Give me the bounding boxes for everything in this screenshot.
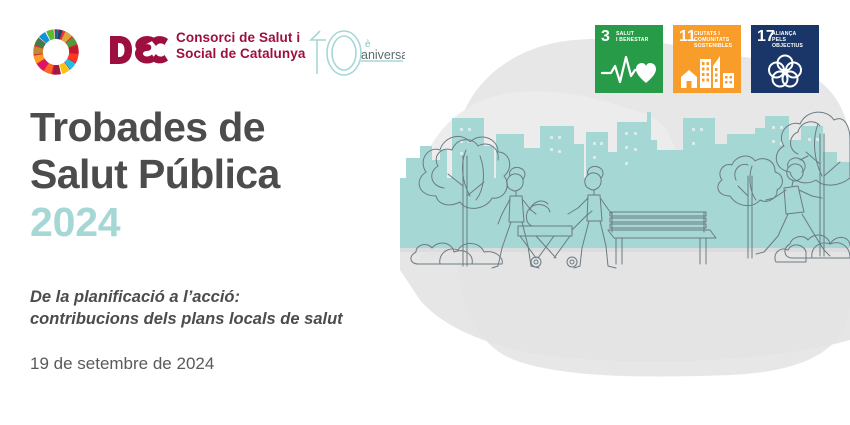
page-title-line2: Salut Pública <box>30 151 410 198</box>
anniversary-word: aniversari <box>361 48 405 62</box>
sdg-badges: 3 SALUT I BENESTAR 11 CIUTATS I COMUNITA… <box>595 25 825 97</box>
poster-canvas: Consorci de Salut i Social de Catalunya … <box>0 0 850 425</box>
page-title-year: 2024 <box>30 199 410 246</box>
sdg-badge-17-label: ALIANÇA PELS OBJECTIUS <box>772 31 816 50</box>
sdg-badge-3-number: 3 <box>601 30 610 44</box>
sdg-badge-11-label-line3: SOSTENIBLES <box>694 43 738 49</box>
interlocking-circles-icon <box>756 51 814 89</box>
dsc-monogram-icon <box>108 32 170 68</box>
sdg-badge-17-label-line2: PELS OBJECTIUS <box>772 37 816 49</box>
consorci-name: Consorci de Salut i Social de Catalunya <box>176 30 305 62</box>
subtitle-line2: contribucions dels plans locals de salut <box>30 308 450 330</box>
event-date: 19 de setembre de 2024 <box>30 353 214 375</box>
city-buildings-icon <box>678 51 736 89</box>
page-title-line1: Trobades de <box>30 104 410 151</box>
headline-block: Trobades de Salut Pública 2024 <box>30 104 410 246</box>
sdg-color-wheel-icon <box>28 24 84 80</box>
sdg-badge-11: 11 CIUTATS I COMUNITATS SOSTENIBLES <box>673 25 741 93</box>
subtitle-line1: De la planificació a l’acció: <box>30 286 450 308</box>
sdg-badge-11-label: CIUTATS I COMUNITATS SOSTENIBLES <box>694 31 738 50</box>
skyline-mast <box>647 112 651 182</box>
consorci-logo: Consorci de Salut i Social de Catalunya <box>108 28 308 74</box>
sdg-badge-17: 17 ALIANÇA PELS OBJECTIUS <box>751 25 819 93</box>
sdg-badge-3-label: SALUT I BENESTAR <box>616 31 660 43</box>
anniversary-logo: è aniversari <box>305 22 405 78</box>
sdg-badge-3: 3 SALUT I BENESTAR <box>595 25 663 93</box>
heartbeat-icon <box>600 51 658 89</box>
consorci-name-line1: Consorci de Salut i <box>176 30 305 46</box>
subtitle: De la planificació a l’acció: contribuci… <box>30 286 450 330</box>
sdg-badge-3-label-line2: I BENESTAR <box>616 37 660 43</box>
consorci-name-line2: Social de Catalunya <box>176 46 305 62</box>
